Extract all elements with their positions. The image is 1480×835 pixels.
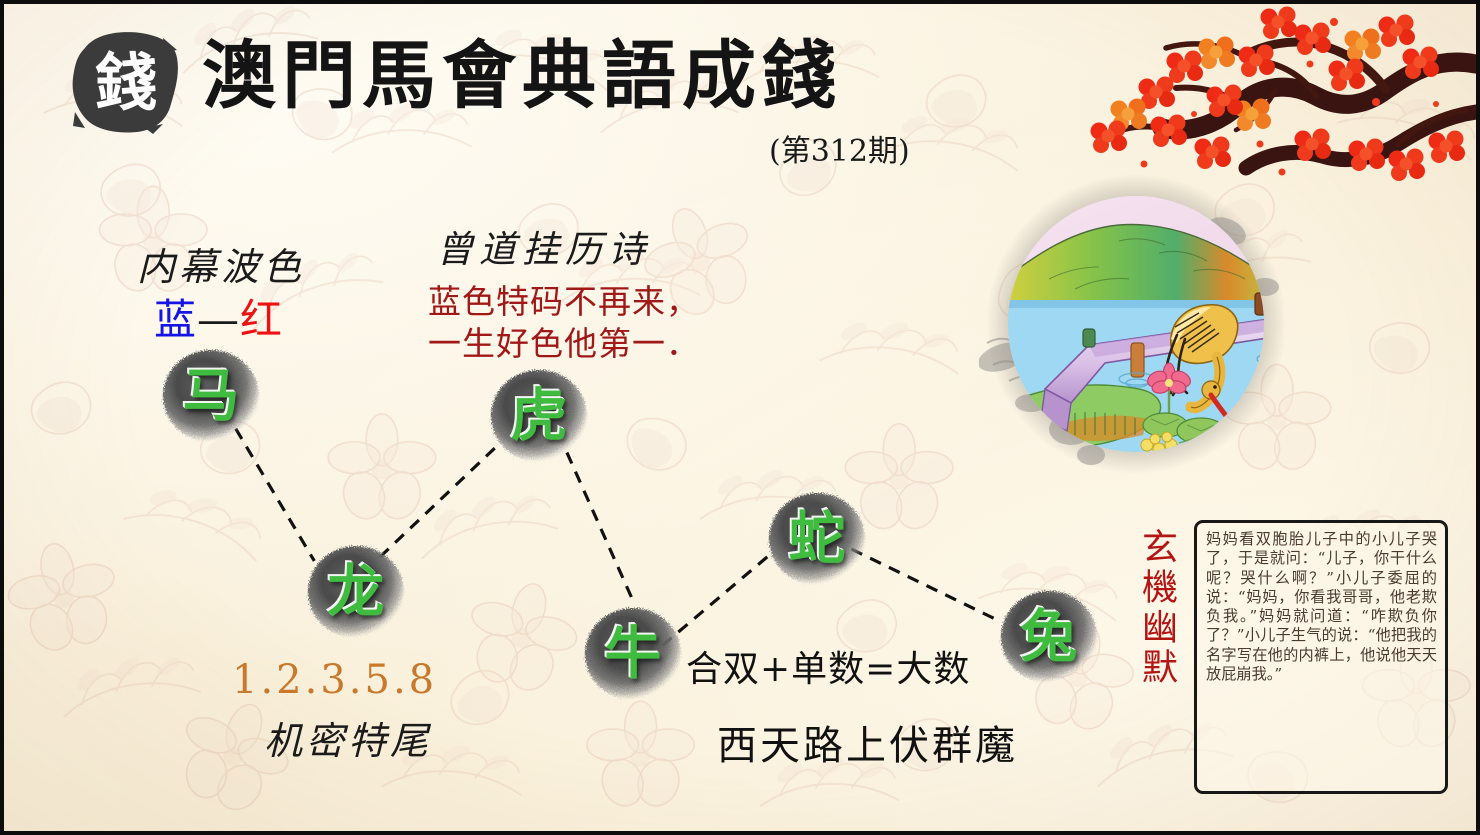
humor-text-box: 妈妈看双胞胎儿子中的小儿子哭了，于是就问：“儿子，你干什么呢？哭什么啊？”小儿子… bbox=[1194, 520, 1448, 794]
seal-character: 錢 bbox=[95, 46, 157, 119]
poem-line-1: 蓝色特码不再来， bbox=[428, 281, 700, 323]
zodiac-blob-niu[interactable]: 牛 bbox=[581, 604, 685, 704]
zodiac-blob-long[interactable]: 龙 bbox=[304, 542, 408, 642]
wave-color-values: 蓝—红 bbox=[154, 286, 283, 347]
zodiac-char-hu: 虎 bbox=[487, 366, 591, 466]
poster-canvas: 錢 澳門馬會典語成錢 (第312期) bbox=[0, 0, 1480, 835]
zodiac-char-long: 龙 bbox=[304, 542, 408, 642]
plum-blossom-branch-icon bbox=[1016, 4, 1476, 194]
humor-body: 妈妈看双胞胎儿子中的小儿子哭了，于是就问：“儿子，你干什么呢？哭什么啊？”小儿子… bbox=[1206, 530, 1437, 684]
secret-tail-numbers: 1.2.3.5.8 bbox=[232, 657, 437, 703]
zodiac-char-she: 蛇 bbox=[765, 489, 869, 589]
humor-vertical-heading: 玄機幽默 bbox=[1137, 528, 1179, 688]
zodiac-blob-hu[interactable]: 虎 bbox=[487, 366, 591, 466]
page-title: 澳門馬會典語成錢 bbox=[202, 39, 842, 113]
inside-wave-color-label: 内幕波色 bbox=[137, 236, 305, 291]
color-blue: 蓝 bbox=[154, 295, 197, 344]
issue-number: (第312期) bbox=[769, 126, 910, 170]
poem-line-2: 一生好色他第一． bbox=[428, 323, 700, 365]
zodiac-blob-ma[interactable]: 马 bbox=[159, 346, 263, 446]
calendar-poem: 蓝色特码不再来， 一生好色他第一． bbox=[428, 281, 700, 365]
zodiac-char-niu: 牛 bbox=[581, 604, 685, 704]
color-red: 红 bbox=[240, 295, 283, 344]
zodiac-char-tu: 兔 bbox=[997, 587, 1101, 687]
zodiac-char-ma: 马 bbox=[159, 346, 263, 446]
zodiac-blob-she[interactable]: 蛇 bbox=[765, 489, 869, 589]
color-separator: — bbox=[197, 295, 240, 344]
money-seal-logo: 錢 bbox=[67, 28, 185, 136]
zodiac-blob-tu[interactable]: 兔 bbox=[997, 587, 1101, 687]
calendar-poem-label: 曾道挂历诗 bbox=[436, 219, 651, 273]
formula-text: 合双+单数=大数 bbox=[686, 640, 970, 692]
crane-bridge-lotus-illustration bbox=[979, 167, 1294, 482]
bottom-phrase: 西天路上伏群魔 bbox=[717, 713, 1018, 771]
secret-tail-label: 机密特尾 bbox=[264, 710, 432, 765]
